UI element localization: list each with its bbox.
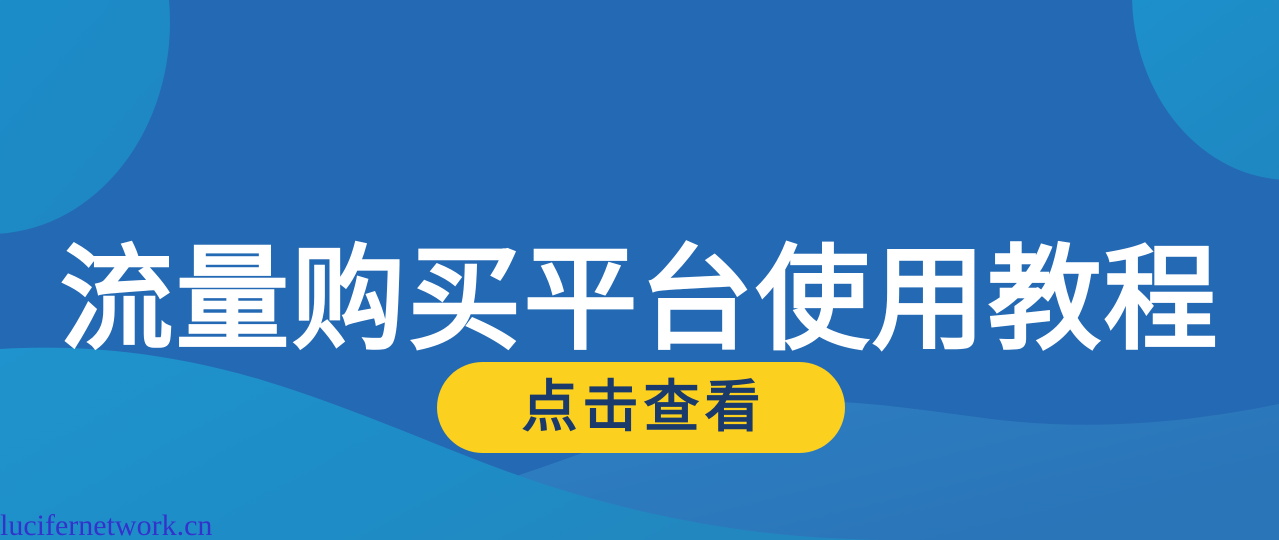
view-tutorial-button[interactable]: 点击查看 bbox=[437, 362, 845, 453]
promo-banner: 流量购买平台使用教程 点击查看 lucifernetwork.cn bbox=[0, 0, 1279, 540]
page-title: 流量购买平台使用教程 bbox=[0, 238, 1279, 362]
site-watermark: lucifernetwork.cn bbox=[0, 510, 212, 540]
view-tutorial-button-label: 点击查看 bbox=[517, 380, 766, 436]
